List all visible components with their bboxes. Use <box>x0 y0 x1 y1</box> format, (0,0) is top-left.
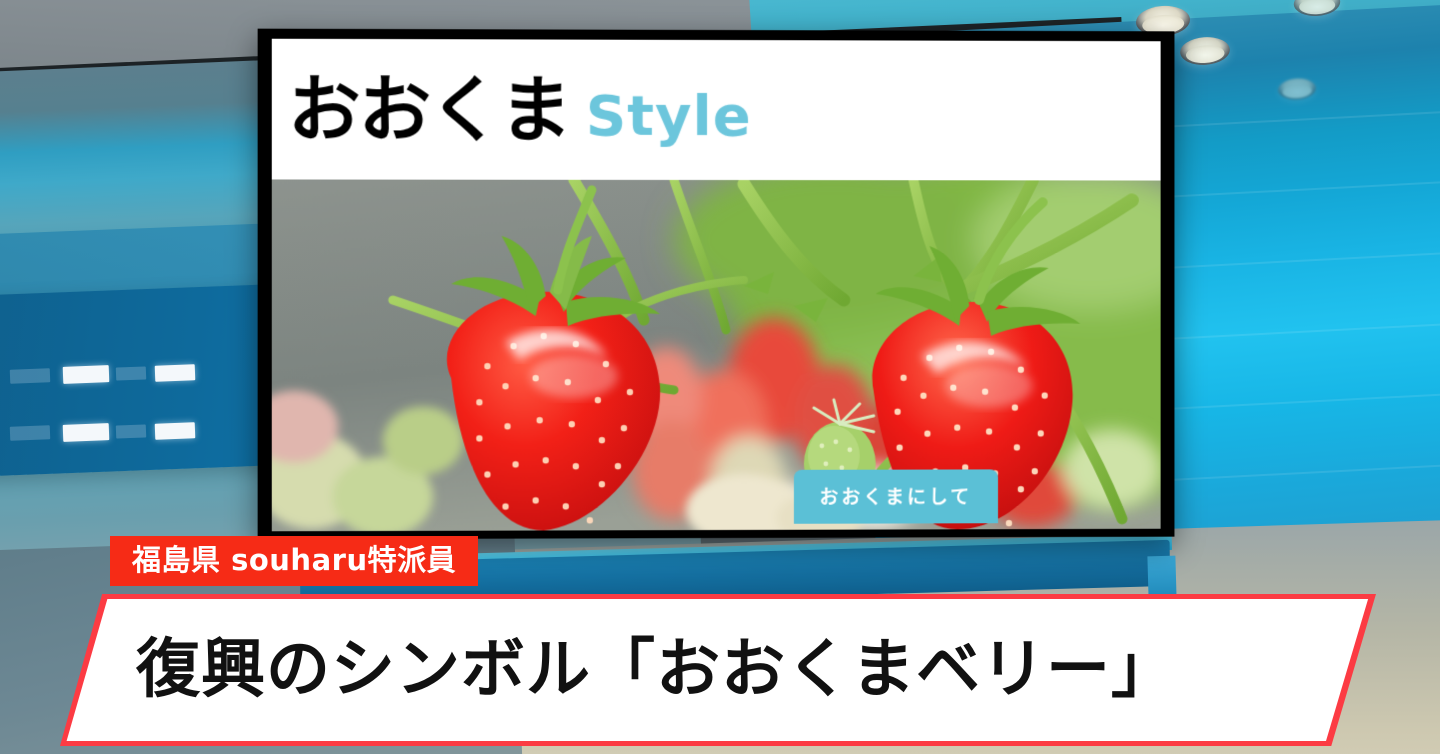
wall-light-accent-7 <box>116 424 146 438</box>
wall-light-accent-2 <box>63 365 110 384</box>
site-logo-japanese-text: おおくま <box>288 73 570 146</box>
wall-light-accent-8 <box>155 422 196 440</box>
studio-desk-end-cap <box>1147 556 1176 601</box>
wall-light-accent-6 <box>63 423 110 442</box>
wall-light-accent-5 <box>10 425 51 441</box>
correspondent-badge: 福島県 souharu特派員 <box>110 536 478 586</box>
website-header: おおくま Style <box>272 39 1161 181</box>
broadcast-frame: おおくま Style <box>0 0 1440 754</box>
site-logo[interactable]: おおくま Style <box>288 73 752 146</box>
ookuma-ni-shite-button[interactable]: おおくまにして <box>793 469 998 523</box>
wall-light-accent-1 <box>10 368 51 384</box>
wall-light-accent-4 <box>155 364 196 382</box>
studio-monitor: おおくま Style <box>258 29 1175 540</box>
monitor-screen: おおくま Style <box>272 39 1161 532</box>
wall-light-accent-3 <box>116 366 146 380</box>
strawberry-photo-illustration <box>272 179 1161 531</box>
headline-banner-inner: 復興のシンボル「おおくまベリー」 <box>60 599 1376 741</box>
site-logo-style-text: Style <box>586 89 752 145</box>
headline-title: 復興のシンボル「おおくまベリー」 <box>136 638 1176 702</box>
website-hero-photo: おおくまにして <box>272 179 1161 531</box>
headline-banner: 復興のシンボル「おおくまベリー」 <box>60 594 1376 746</box>
